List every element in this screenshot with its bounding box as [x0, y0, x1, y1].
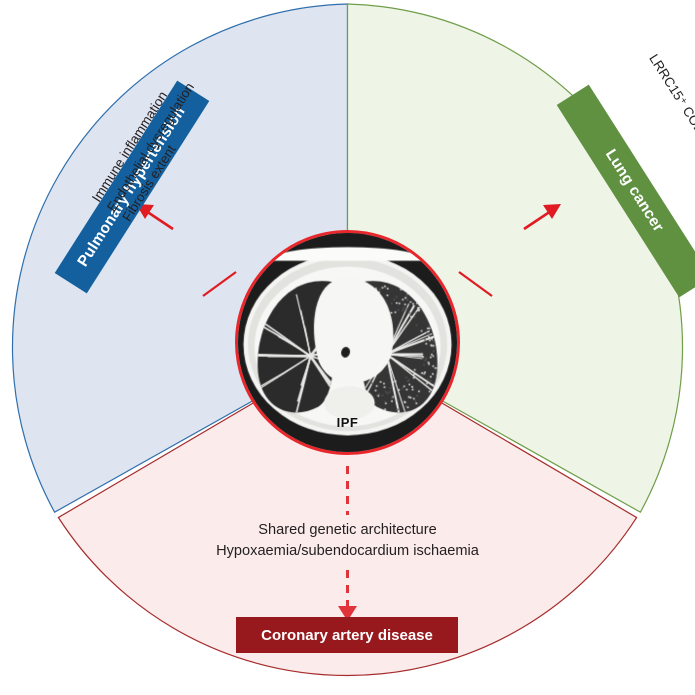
- mechanism-item: Hypoxaemia/subendocardium ischaemia: [0, 541, 695, 562]
- mechanisms-coronary-artery-disease: Shared genetic architecture Hypoxaemia/s…: [0, 520, 695, 561]
- banner-coronary-artery-disease-label: Coronary artery disease: [261, 627, 433, 644]
- ct-scan-caption: IPF: [238, 415, 457, 430]
- banner-coronary-artery-disease[interactable]: Coronary artery disease: [236, 617, 458, 653]
- ct-scan-thumbnail: IPF: [235, 230, 460, 455]
- ipf-comorbidity-diagram: IPF Pulmonary hypertension Lung cancer C…: [0, 0, 695, 695]
- mechanism-item: Shared genetic architecture: [0, 520, 695, 541]
